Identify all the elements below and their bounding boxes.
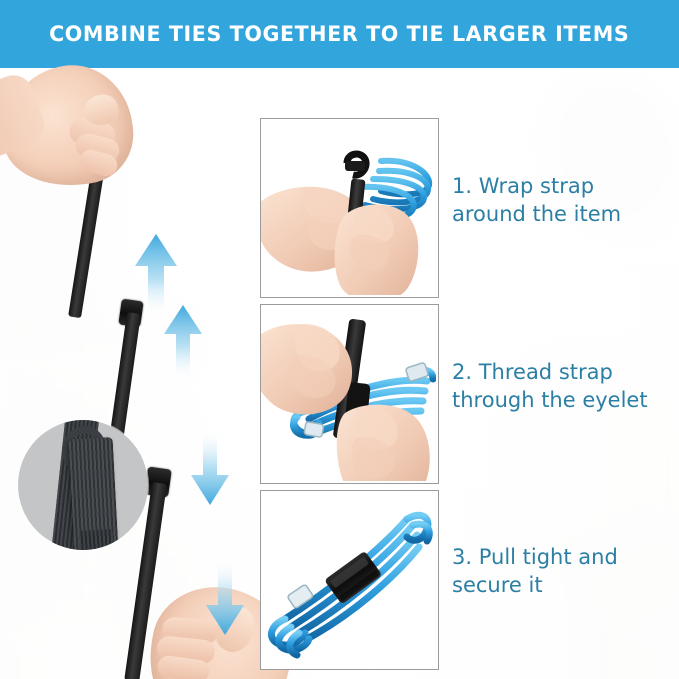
- step-2-text: 2. Thread strap through the eyelet: [452, 358, 677, 414]
- step-3-line-2: secure it: [452, 571, 677, 599]
- step-1-text: 1. Wrap strap around the item: [452, 172, 677, 228]
- photo-3-illustration: [261, 491, 436, 667]
- strap-connection-closeup: [18, 420, 148, 550]
- step-1-line-1: 1. Wrap strap: [452, 172, 677, 200]
- photo-wrap-strap-around-item: [260, 118, 439, 298]
- photo-thread-strap-through-eyelet: [260, 304, 439, 484]
- arrow-down-1: [188, 425, 232, 507]
- step-3-line-1: 3. Pull tight and: [452, 543, 677, 571]
- hand-top: [0, 58, 140, 195]
- step-3-text: 3. Pull tight and secure it: [452, 543, 677, 599]
- page-title: COMBINE TIES TOGETHER TO TIE LARGER ITEM…: [49, 22, 629, 47]
- arrow-down-2: [203, 555, 247, 637]
- step-1-line-2: around the item: [452, 200, 677, 228]
- photo-3-content: [261, 491, 438, 669]
- photo-pull-tight-and-secure: [260, 490, 439, 670]
- photo-2-illustration: [261, 305, 436, 481]
- header-banner: COMBINE TIES TOGETHER TO TIE LARGER ITEM…: [0, 0, 679, 68]
- step-2-line-2: through the eyelet: [452, 386, 677, 414]
- infographic-root: COMBINE TIES TOGETHER TO TIE LARGER ITEM…: [0, 0, 679, 679]
- photo-1-content: [261, 119, 438, 297]
- step-2-line-1: 2. Thread strap: [452, 358, 677, 386]
- photo-2-content: [261, 305, 438, 483]
- closeup-strap-tail: [78, 529, 115, 550]
- arrow-up-2: [161, 303, 205, 383]
- wrist-top: [0, 70, 50, 165]
- combined-straps-demonstration: [0, 68, 300, 679]
- photo-1-illustration: [261, 119, 436, 295]
